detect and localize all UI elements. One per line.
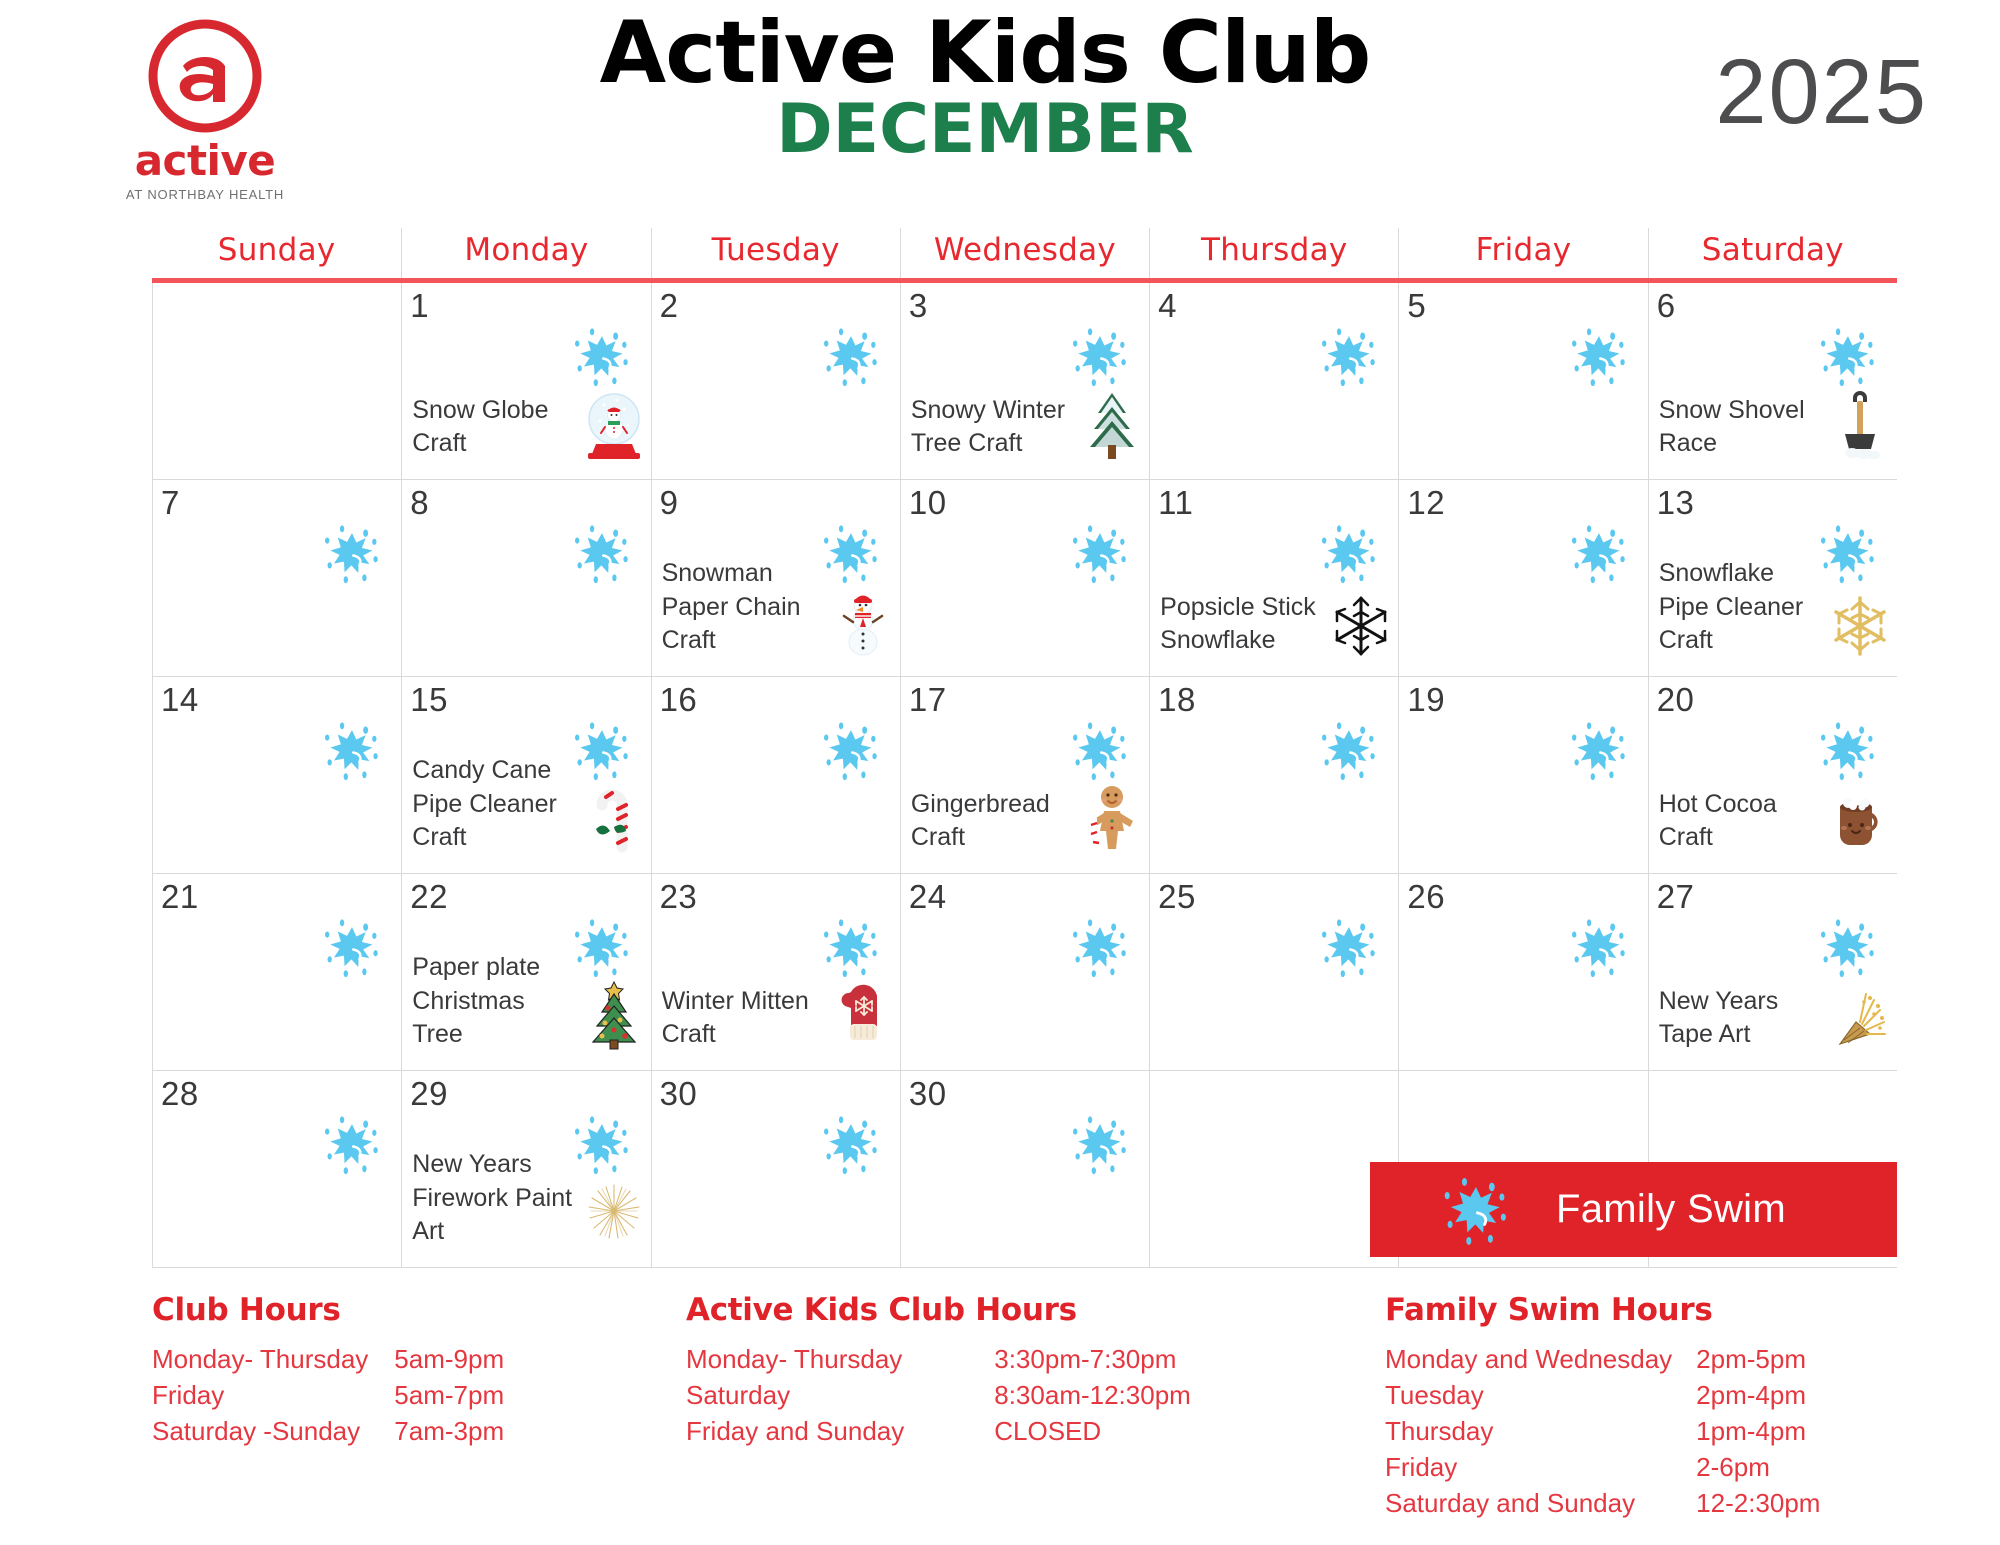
event-title: Winter Mitten Craft [662,985,830,1053]
year-label: 2025 [1715,40,1928,145]
event-block: Paper plate Christmas Tree [412,951,644,1052]
family-swim-hours-title: Family Swim Hours [1385,1292,1846,1328]
calendar-week-row: 2122Paper plate Christmas Tree23Winter M… [152,874,1897,1071]
day-number: 5 [1407,289,1639,322]
day-number: 20 [1657,683,1889,716]
day-cell-24[interactable]: 24 [900,874,1149,1070]
snowman-icon [832,584,894,658]
event-title: New Years Firework Paint Art [412,1148,580,1249]
hours-day: Saturday [686,1378,994,1414]
day-number: 3 [909,289,1141,322]
water-splash-icon [321,916,383,978]
hours-time: 3:30pm-7:30pm [994,1342,1217,1378]
day-cell-1[interactable]: 1Snow Globe Craft [401,283,650,479]
day-cell-2[interactable]: 2 [651,283,900,479]
hours-row: Thursday 1pm-4pm [1385,1414,1846,1450]
christmas-tree-icon [583,978,645,1052]
day-number: 30 [660,1077,892,1110]
day-cell-14[interactable]: 14 [152,677,401,873]
day-number: 30 [909,1077,1141,1110]
hours-day: Saturday -Sunday [152,1414,394,1450]
day-cell-27[interactable]: 27New Years Tape Art [1648,874,1897,1070]
page-title: Active Kids Club [430,8,1540,98]
day-cell-30[interactable]: 30 [900,1071,1149,1267]
calendar-week-row: 789Snowman Paper Chain Craft1011Popsicle… [152,480,1897,677]
water-splash-icon [1817,325,1879,387]
weekday-wednesday: Wednesday [900,228,1149,278]
logo-tagline: AT NORTHBAY HEALTH [100,187,310,202]
hours-day: Monday and Wednesday [1385,1342,1696,1378]
party-popper-icon [1829,978,1891,1052]
water-splash-icon [1318,325,1380,387]
kids-club-hours-title: Active Kids Club Hours [686,1292,1217,1328]
weekday-saturday: Saturday [1648,228,1897,278]
event-block: Snow Shovel Race [1659,387,1891,461]
day-cell-8[interactable]: 8 [401,480,650,676]
hours-day: Friday and Sunday [686,1414,994,1450]
hours-row: Monday- Thursday 3:30pm-7:30pm [686,1342,1217,1378]
event-title: Snowman Paper Chain Craft [662,557,830,658]
weekday-sunday: Sunday [152,228,401,278]
gingerbread-man-icon [1081,781,1143,855]
event-block: New Years Tape Art [1659,978,1891,1052]
weekday-monday: Monday [401,228,650,278]
water-splash-icon [1318,522,1380,584]
hours-day: Friday [152,1378,394,1414]
event-block: Candy Cane Pipe Cleaner Craft [412,754,644,855]
water-splash-icon [1069,719,1131,781]
day-cell-4[interactable]: 4 [1149,283,1398,479]
firework-icon [583,1175,645,1249]
day-cell-29[interactable]: 29New Years Firework Paint Art [401,1071,650,1267]
day-number: 19 [1407,683,1639,716]
family-swim-label: Family Swim [1556,1187,1786,1232]
footer-hours: Club Hours Monday- Thursday 5am-9pm Frid… [0,1292,2000,1545]
day-cell-empty [152,283,401,479]
event-block: Gingerbread Craft [911,781,1143,855]
month-title: DECEMBER [430,94,1540,165]
water-splash-icon [820,325,882,387]
hours-day: Monday- Thursday [152,1342,394,1378]
title-block: Active Kids Club DECEMBER [430,8,1540,166]
day-number: 11 [1158,486,1390,519]
club-hours-list: Monday- Thursday 5am-9pm Friday 5am-7pm … [152,1342,530,1450]
day-number: 21 [161,880,393,913]
hours-row: Friday and Sunday CLOSED [686,1414,1217,1450]
snow-shovel-icon [1829,387,1891,461]
day-number: 18 [1158,683,1390,716]
event-title: Snow Globe Craft [412,394,580,462]
day-cell-20[interactable]: 20Hot Cocoa Craft [1648,677,1897,873]
day-number: 28 [161,1077,393,1110]
water-splash-icon [1318,916,1380,978]
hours-time: 8:30am-12:30pm [994,1378,1217,1414]
day-cell-12[interactable]: 12 [1398,480,1647,676]
water-splash-icon [321,1113,383,1175]
day-cell-11[interactable]: 11Popsicle Stick Snowflake [1149,480,1398,676]
brand-logo: active AT NORTHBAY HEALTH [100,14,310,202]
day-number: 22 [410,880,642,913]
hot-cocoa-mug-icon [1829,781,1891,855]
water-splash-icon [321,522,383,584]
hours-row: Friday 2-6pm [1385,1450,1846,1486]
hours-time: 7am-3pm [394,1414,530,1450]
hours-time: 2pm-4pm [1696,1378,1846,1414]
day-cell-28[interactable]: 28 [152,1071,401,1267]
day-number: 12 [1407,486,1639,519]
hours-day: Tuesday [1385,1378,1696,1414]
hours-day: Friday [1385,1450,1696,1486]
hours-day: Thursday [1385,1414,1696,1450]
water-splash-icon [1440,1174,1512,1246]
water-splash-icon [1069,522,1131,584]
gold-snowflake-icon [1829,584,1891,658]
water-splash-icon [820,1113,882,1175]
water-splash-icon [1069,916,1131,978]
calendar-week-row: 1Snow Globe Craft23Snowy Winter Tree Cra… [152,283,1897,480]
event-title: Snowy Winter Tree Craft [911,394,1079,462]
hours-row: Tuesday 2pm-4pm [1385,1378,1846,1414]
hours-row: Friday 5am-7pm [152,1378,530,1414]
family-swim-hours-section: Family Swim Hours Monday and Wednesday 2… [1385,1292,1846,1521]
day-cell-6[interactable]: 6Snow Shovel Race [1648,283,1897,479]
active-circle-a-logo-icon [139,14,271,146]
event-block: Popsicle Stick Snowflake [1160,584,1392,658]
event-block: New Years Firework Paint Art [412,1148,644,1249]
hours-row: Monday- Thursday 5am-9pm [152,1342,530,1378]
weekday-header-row: Sunday Monday Tuesday Wednesday Thursday… [152,228,1897,283]
day-cell-26[interactable]: 26 [1398,874,1647,1070]
day-number: 24 [909,880,1141,913]
water-splash-icon [571,325,633,387]
water-splash-icon [1318,719,1380,781]
water-splash-icon [1817,719,1879,781]
water-splash-icon [1817,916,1879,978]
day-cell-16[interactable]: 16 [651,677,900,873]
day-cell-7[interactable]: 7 [152,480,401,676]
day-number: 9 [660,486,892,519]
hours-time: 5am-7pm [394,1378,530,1414]
day-number: 13 [1657,486,1889,519]
kids-club-hours-list: Monday- Thursday 3:30pm-7:30pm Saturday … [686,1342,1217,1450]
day-number: 2 [660,289,892,322]
water-splash-icon [1568,325,1630,387]
water-splash-icon [820,719,882,781]
event-title: Candy Cane Pipe Cleaner Craft [412,754,580,855]
day-number: 7 [161,486,393,519]
day-cell-13[interactable]: 13Snowflake Pipe Cleaner Craft [1648,480,1897,676]
day-number: 26 [1407,880,1639,913]
calendar-grid: Sunday Monday Tuesday Wednesday Thursday… [152,228,1897,1268]
hours-time: 2-6pm [1696,1450,1846,1486]
day-number: 4 [1158,289,1390,322]
weekday-thursday: Thursday [1149,228,1398,278]
hours-time: 5am-9pm [394,1342,530,1378]
event-block: Snow Globe Craft [412,387,644,461]
day-number: 27 [1657,880,1889,913]
water-splash-icon [1069,325,1131,387]
event-block: Winter Mitten Craft [662,978,894,1052]
day-number: 17 [909,683,1141,716]
day-number: 29 [410,1077,642,1110]
day-number: 10 [909,486,1141,519]
family-swim-legend-banner: Family Swim [1370,1162,1897,1257]
weekday-tuesday: Tuesday [651,228,900,278]
candy-cane-icon [583,781,645,855]
snowy-tree-icon [1081,387,1143,461]
day-number: 15 [410,683,642,716]
hours-row: Monday and Wednesday 2pm-5pm [1385,1342,1846,1378]
day-cell-22[interactable]: 22Paper plate Christmas Tree [401,874,650,1070]
day-number: 8 [410,486,642,519]
event-block: Hot Cocoa Craft [1659,781,1891,855]
day-cell-10[interactable]: 10 [900,480,1149,676]
day-cell-18[interactable]: 18 [1149,677,1398,873]
event-title: Snow Shovel Race [1659,394,1827,462]
hours-time: 1pm-4pm [1696,1414,1846,1450]
day-number: 25 [1158,880,1390,913]
hours-time: 12-2:30pm [1696,1486,1846,1522]
day-number: 1 [410,289,642,322]
day-number: 16 [660,683,892,716]
water-splash-icon [1568,916,1630,978]
club-hours-section: Club Hours Monday- Thursday 5am-9pm Frid… [152,1292,530,1450]
page-header: active AT NORTHBAY HEALTH Active Kids Cl… [0,0,2000,218]
event-title: Paper plate Christmas Tree [412,951,580,1052]
water-splash-icon [1568,522,1630,584]
hours-day: Monday- Thursday [686,1342,994,1378]
hours-row: Saturday -Sunday 7am-3pm [152,1414,530,1450]
day-cell-3[interactable]: 3Snowy Winter Tree Craft [900,283,1149,479]
event-title: New Years Tape Art [1659,985,1827,1053]
snowflake-icon [1330,584,1392,658]
day-cell-25[interactable]: 25 [1149,874,1398,1070]
event-block: Snowy Winter Tree Craft [911,387,1143,461]
day-cell-30[interactable]: 30 [651,1071,900,1267]
event-block: Snowflake Pipe Cleaner Craft [1659,557,1891,658]
day-number: 6 [1657,289,1889,322]
kids-club-hours-section: Active Kids Club Hours Monday- Thursday … [686,1292,1217,1450]
calendar-weeks: 1Snow Globe Craft23Snowy Winter Tree Cra… [152,283,1897,1268]
mitten-icon [832,978,894,1052]
hours-row: Saturday 8:30am-12:30pm [686,1378,1217,1414]
logo-wordmark: active [100,140,310,182]
hours-row: Saturday and Sunday 12-2:30pm [1385,1486,1846,1522]
snow-globe-icon [583,387,645,461]
family-swim-hours-list: Monday and Wednesday 2pm-5pm Tuesday 2pm… [1385,1342,1846,1521]
event-block: Snowman Paper Chain Craft [662,557,894,658]
weekday-friday: Friday [1398,228,1647,278]
day-number: 14 [161,683,393,716]
event-title: Hot Cocoa Craft [1659,788,1827,856]
day-cell-21[interactable]: 21 [152,874,401,1070]
water-splash-icon [321,719,383,781]
day-cell-15[interactable]: 15Candy Cane Pipe Cleaner Craft [401,677,650,873]
hours-time: 2pm-5pm [1696,1342,1846,1378]
day-cell-17[interactable]: 17Gingerbread Craft [900,677,1149,873]
event-title: Snowflake Pipe Cleaner Craft [1659,557,1827,658]
water-splash-icon [1568,719,1630,781]
club-hours-title: Club Hours [152,1292,530,1328]
day-cell-empty [1149,1071,1398,1267]
day-cell-5[interactable]: 5 [1398,283,1647,479]
water-splash-icon [571,522,633,584]
hours-time: CLOSED [994,1414,1217,1450]
calendar-week-row: 1415Candy Cane Pipe Cleaner Craft1617Gin… [152,677,1897,874]
water-splash-icon [820,916,882,978]
event-title: Popsicle Stick Snowflake [1160,591,1328,659]
day-number: 23 [660,880,892,913]
day-cell-23[interactable]: 23Winter Mitten Craft [651,874,900,1070]
water-splash-icon [1069,1113,1131,1175]
event-title: Gingerbread Craft [911,788,1079,856]
day-cell-9[interactable]: 9Snowman Paper Chain Craft [651,480,900,676]
hours-day: Saturday and Sunday [1385,1486,1696,1522]
day-cell-19[interactable]: 19 [1398,677,1647,873]
